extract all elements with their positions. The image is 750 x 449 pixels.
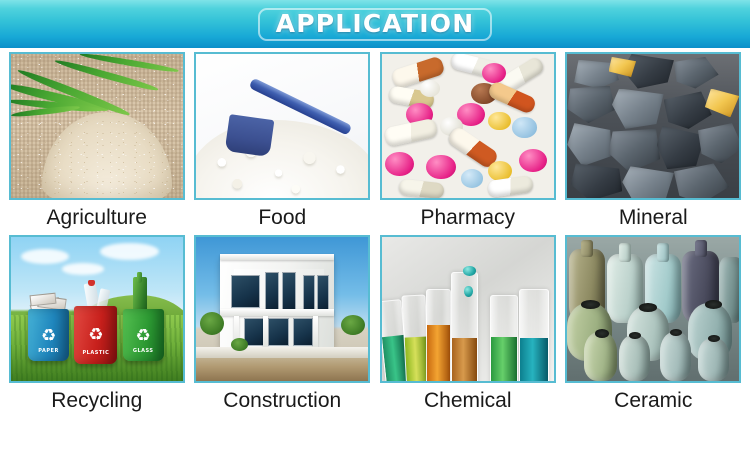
tree <box>200 312 224 335</box>
banner-title-box: APPLICATION <box>258 8 493 41</box>
grid-row: ♻ PAPER ♻ PLASTIC ♻ GLASS Recycling <box>0 235 750 412</box>
rock-chunk <box>622 166 674 198</box>
recycling-bin-paper: ♻ PAPER <box>28 309 69 361</box>
tile-label-mineral: Mineral <box>619 206 688 229</box>
pill-pink <box>385 152 414 176</box>
bin-label-paper: PAPER <box>38 348 59 354</box>
thumbnail-agriculture[interactable] <box>9 52 185 200</box>
support-column <box>313 316 318 348</box>
rock-chunk <box>567 123 612 166</box>
recycling-image: ♻ PAPER ♻ PLASTIC ♻ GLASS <box>11 237 183 381</box>
cloud <box>21 249 69 265</box>
test-tube <box>490 295 518 381</box>
tile-label-construction: Construction <box>223 389 341 412</box>
balcony-slab <box>220 309 334 316</box>
bottle-neck <box>695 240 707 257</box>
capsule <box>398 178 444 198</box>
cloud <box>100 243 158 260</box>
cloud <box>62 263 103 275</box>
recycling-bin-plastic: ♻ PLASTIC <box>74 306 117 364</box>
capsule <box>384 118 438 147</box>
liquid-green <box>491 337 517 381</box>
rock-chunk <box>657 126 705 169</box>
tile-pharmacy[interactable]: Pharmacy <box>379 52 557 229</box>
liquid-drop <box>463 266 476 276</box>
tile-food[interactable]: Food <box>194 52 372 229</box>
pill-pink <box>426 155 455 179</box>
grid-row: Agriculture Food <box>0 52 750 229</box>
jar-mouth <box>639 303 656 312</box>
test-tube <box>426 289 450 381</box>
rock-chunk <box>698 123 739 163</box>
recycle-icon: ♻ <box>136 327 151 344</box>
scoop-cup <box>225 114 274 157</box>
pill-blue <box>512 117 536 137</box>
tile-label-recycling: Recycling <box>51 389 142 412</box>
ceramic-small-jar <box>584 332 617 381</box>
recycle-icon: ♻ <box>88 326 103 343</box>
tile-recycling[interactable]: ♻ PAPER ♻ PLASTIC ♻ GLASS Recycling <box>8 235 186 412</box>
agriculture-image <box>11 54 183 198</box>
liquid-amber <box>452 338 478 381</box>
tile-construction[interactable]: Construction <box>194 235 372 412</box>
bottle-neck <box>619 243 631 262</box>
ceramic-image <box>567 237 739 381</box>
thumbnail-construction[interactable] <box>194 235 370 383</box>
window <box>293 318 314 346</box>
jar-mouth <box>581 300 600 309</box>
rock-chunk <box>674 57 719 89</box>
thumbnail-recycling[interactable]: ♻ PAPER ♻ PLASTIC ♻ GLASS <box>9 235 185 383</box>
rock-chunk <box>609 129 661 172</box>
window <box>268 318 289 346</box>
rock-chunk <box>674 163 729 198</box>
jar-mouth <box>595 329 609 338</box>
ceramic-small-jar <box>660 332 691 381</box>
window <box>317 275 329 312</box>
pill-yellow <box>488 112 510 131</box>
pill-pink <box>519 149 547 172</box>
shrub <box>231 338 248 351</box>
ceramic-small-jar <box>698 338 729 381</box>
tile-chemical[interactable]: Chemical <box>379 235 557 412</box>
tree <box>341 315 365 335</box>
page-title: APPLICATION <box>276 11 475 36</box>
food-image <box>196 54 368 198</box>
recycle-icon: ♻ <box>41 327 56 344</box>
thumbnail-ceramic[interactable] <box>565 235 741 383</box>
rock-chunk <box>612 89 664 129</box>
liquid-orange <box>427 325 449 381</box>
tile-ceramic[interactable]: Ceramic <box>565 235 743 412</box>
chemical-image <box>382 237 554 381</box>
rock-chunk <box>567 86 615 123</box>
tile-label-agriculture: Agriculture <box>47 206 147 229</box>
pill-white <box>420 80 441 97</box>
pill-blue <box>461 169 483 188</box>
bin-label-glass: GLASS <box>133 348 154 354</box>
pharmacy-image <box>382 54 554 198</box>
test-tube <box>519 289 549 381</box>
glass-bottle-neck <box>137 272 142 284</box>
thumbnail-chemical[interactable] <box>380 235 556 383</box>
support-column <box>263 316 268 348</box>
tile-mineral[interactable]: Mineral <box>565 52 743 229</box>
thumbnail-pharmacy[interactable] <box>380 52 556 200</box>
liquid-teal <box>520 338 548 381</box>
rock-chunk <box>571 163 623 198</box>
recycling-bin-glass: ♻ GLASS <box>123 309 164 361</box>
window <box>231 275 261 309</box>
rock-chunk <box>664 91 712 128</box>
bottle-neck <box>657 243 669 262</box>
boundary-wall <box>196 347 368 359</box>
pill-pink <box>482 63 506 83</box>
application-banner: APPLICATION <box>0 0 750 48</box>
tile-label-chemical: Chemical <box>424 389 512 412</box>
roof-parapet <box>220 254 334 260</box>
bottle-neck <box>581 240 593 257</box>
tile-label-food: Food <box>258 206 306 229</box>
window <box>282 272 296 311</box>
thumbnail-mineral[interactable] <box>565 52 741 200</box>
bin-label-plastic: PLASTIC <box>82 350 109 356</box>
tile-label-ceramic: Ceramic <box>614 389 692 412</box>
thumbnail-food[interactable] <box>194 52 370 200</box>
application-grid: Agriculture Food <box>0 52 750 412</box>
construction-image <box>196 237 368 381</box>
tile-label-pharmacy: Pharmacy <box>420 206 515 229</box>
window <box>303 275 315 312</box>
ceramic-small-jar <box>619 335 650 381</box>
window <box>265 272 279 311</box>
mineral-image <box>567 54 739 198</box>
tile-agriculture[interactable]: Agriculture <box>8 52 186 229</box>
bottle-cap <box>88 280 95 286</box>
